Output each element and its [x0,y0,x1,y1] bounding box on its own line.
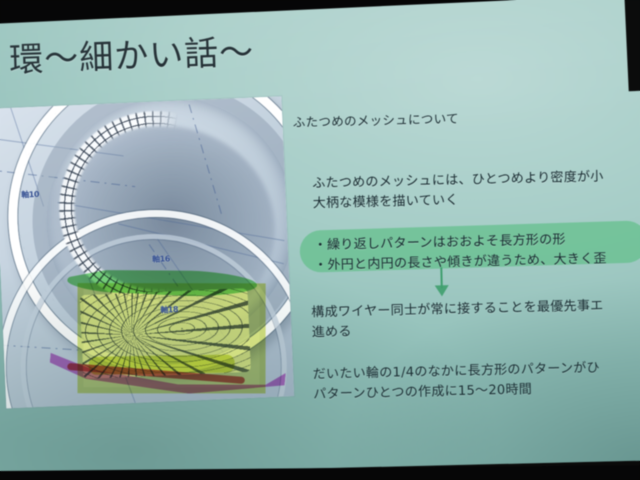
paragraph-time-estimate: だいたい輪の1/4のなかに長方形のパターンがひ パターンひとつの作成に15〜20… [313,359,601,406]
arrow-head [435,285,449,296]
axis-label-3: 軸18 [160,304,178,316]
down-arrow-icon [433,267,450,297]
bullet-list: ・繰り返しパターンはおおよそ長方形の形 ・外円と内円の長さや傾きが違うため、大き… [314,229,607,276]
slide-photo-ring-diagram: 軸10 軸16 軸18 [0,96,294,408]
paragraph-density: ふたつめのメッシュには、ひとつめより密度が小 大柄な模様を描いていく [312,167,604,214]
projection-screen-slide: 環〜細かい話〜 [0,0,640,476]
axis-label-2: 軸16 [152,253,170,265]
slide-title: 環〜細かい話〜 [9,34,255,80]
axis-label-1: 軸10 [21,189,39,201]
lead-text: ふたつめのメッシュについて [293,109,459,132]
screenshot-root: 環〜細かい話〜 [0,0,640,480]
paragraph-wire-priority: 構成ワイヤー同士が常に接することを最優先事エ 進める [311,297,604,344]
